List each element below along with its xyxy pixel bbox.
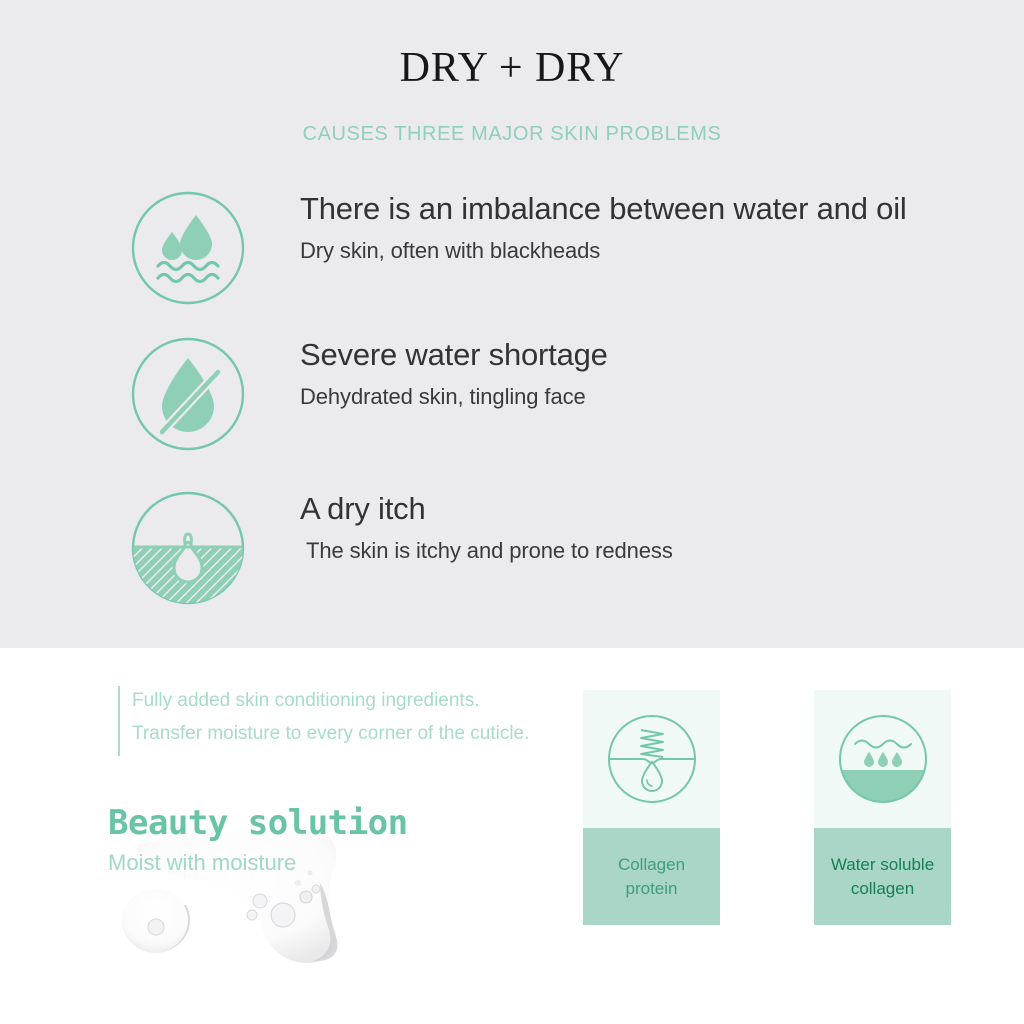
- claims-accent-bar: [118, 686, 120, 756]
- brand-subtitle: Moist with moisture: [108, 847, 528, 879]
- ingredient-card[interactable]: Water solublecollagen: [814, 690, 951, 925]
- page-subtitle: CAUSES THREE MAJOR SKIN PROBLEMS: [0, 123, 1024, 146]
- card-label-line1: Water soluble: [831, 855, 934, 874]
- problem-title: Severe water shortage: [300, 336, 1020, 374]
- brand-block: Beauty solution Moist with moisture: [108, 803, 528, 879]
- problem-item: A dry itch The skin is itchy and prone t…: [0, 490, 1024, 620]
- problem-subtitle: Dry skin, often with blackheads: [300, 236, 1020, 266]
- problem-subtitle: The skin is itchy and prone to redness: [300, 536, 1020, 566]
- page-root: DRY + DRY CAUSES THREE MAJOR SKIN PROBLE…: [0, 0, 1024, 1024]
- card-label-text: Collagenprotein: [618, 853, 685, 901]
- card-label-text: Water solublecollagen: [831, 853, 934, 901]
- card-icon-area: [583, 690, 720, 828]
- solution-section: Fully added skin conditioning ingredient…: [0, 648, 1024, 1024]
- problem-item: There is an imbalance between water and …: [0, 190, 1024, 320]
- dry-skin-pore-icon: [130, 490, 246, 606]
- ingredient-card[interactable]: Collagenprotein: [583, 690, 720, 925]
- problem-item: Severe water shortage Dehydrated skin, t…: [0, 336, 1024, 466]
- water-soluble-drops-icon: [836, 712, 930, 806]
- problem-title: A dry itch: [300, 490, 1020, 528]
- problems-section: DRY + DRY CAUSES THREE MAJOR SKIN PROBLE…: [0, 0, 1024, 648]
- problem-text-group: A dry itch The skin is itchy and prone t…: [300, 490, 1020, 566]
- card-label-line1: Collagen: [618, 855, 685, 874]
- water-drops-waves-icon: [130, 190, 246, 306]
- card-label: Collagenprotein: [583, 828, 720, 925]
- card-icon-area: [814, 690, 951, 828]
- claim-line: Transfer moisture to every corner of the…: [132, 717, 588, 750]
- card-label-line2: protein: [626, 879, 678, 898]
- problem-title: There is an imbalance between water and …: [300, 190, 1020, 228]
- problem-subtitle: Dehydrated skin, tingling face: [300, 382, 1020, 412]
- claims-block: Fully added skin conditioning ingredient…: [118, 684, 588, 750]
- card-label: Water solublecollagen: [814, 828, 951, 925]
- claim-line: Fully added skin conditioning ingredient…: [132, 684, 588, 717]
- card-label-line2: collagen: [851, 879, 914, 898]
- brand-title: Beauty solution: [108, 803, 528, 843]
- no-water-drop-icon: [130, 336, 246, 452]
- collagen-coil-drop-icon: [605, 712, 699, 806]
- problem-text-group: There is an imbalance between water and …: [300, 190, 1020, 266]
- problem-text-group: Severe water shortage Dehydrated skin, t…: [300, 336, 1020, 412]
- page-title: DRY + DRY: [0, 44, 1024, 92]
